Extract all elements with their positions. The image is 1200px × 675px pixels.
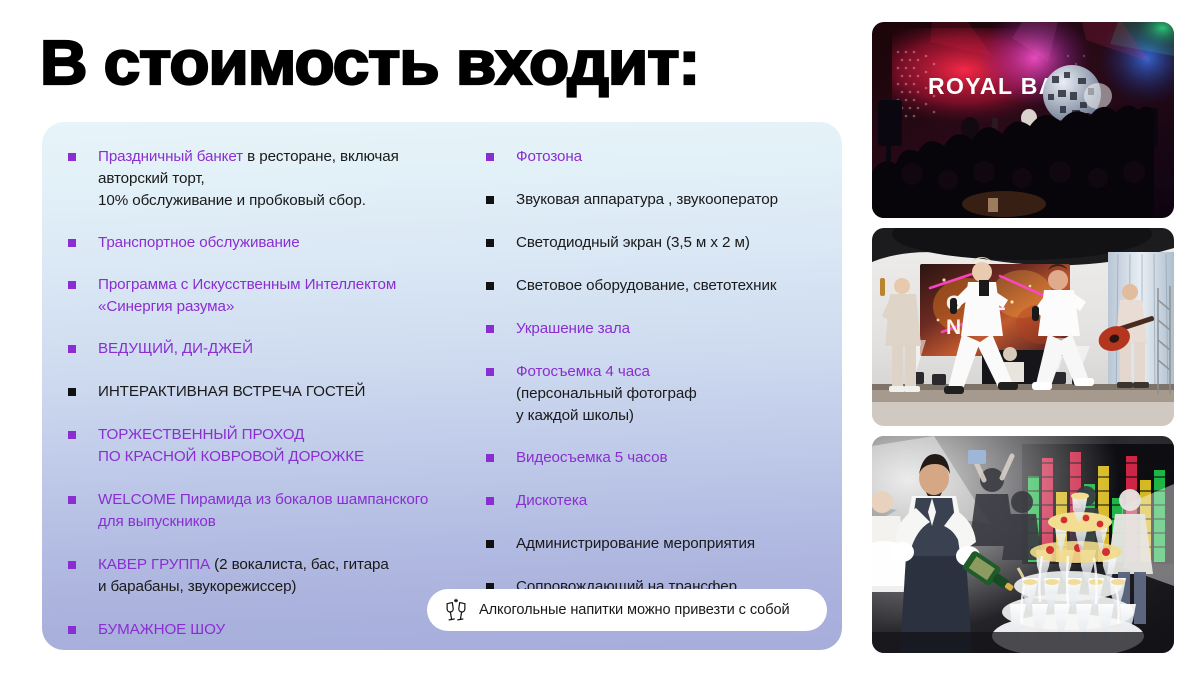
list-item: КАВЕР ГРУППА (2 вокалиста, бас, гитараи … [68,554,468,598]
bullet-icon [486,454,494,462]
list-item-highlight: Украшение зала [516,320,630,337]
list-item-highlight: Праздничный банкет [98,148,243,165]
list-item-line: 10% обслуживание и пробковый сбор. [98,192,366,209]
list-item-rest: Светодиодный экран (3,5 м х 2 м) [516,234,750,251]
bullet-icon [68,496,76,504]
concert-stage-royal-band-photo: ROYAL BAND [872,22,1174,218]
white-suit-performers-stage-photo: OYAL ND [872,228,1174,426]
list-item-line: и барабаны, звукорежиссер) [98,578,296,595]
bullet-icon [486,153,494,161]
list-item-highlight: ВЕДУЩИЙ, ДИ-ДЖЕЙ [98,340,253,357]
list-item-text: КАВЕР ГРУППА (2 вокалиста, бас, гитараи … [98,554,389,598]
bullet-icon [486,325,494,333]
list-item: Украшение зала [486,318,842,340]
bullet-icon [486,282,494,290]
bullet-icon [68,345,76,353]
list-item-text: ИНТЕРАКТИВНАЯ ВСТРЕЧА ГОСТЕЙ [98,381,365,403]
list-item-rest: Администрирование мероприятия [516,535,755,552]
list-item-text: Администрирование мероприятия [516,533,755,555]
list-item-rest: в ресторане, включая [243,148,399,165]
alcohol-note-text: Алкогольные напитки можно привезти с соб… [479,602,790,618]
inclusions-right-column: ФотозонаЗвуковая аппаратура , звукоопера… [468,122,842,650]
bullet-icon [68,388,76,396]
clinking-champagne-glasses-icon [443,597,469,623]
list-item-text: Праздничный банкет в ресторане, включаяа… [98,146,399,212]
list-item-highlight: Дискотека [516,492,587,509]
list-item-highlight: КАВЕР ГРУППА [98,556,210,573]
bullet-icon [486,239,494,247]
list-item-line: «Синергия разума» [98,298,234,315]
list-item: Звуковая аппаратура , звукооператор [486,189,842,211]
list-item-text: Фотозона [516,146,582,168]
bullet-icon [68,281,76,289]
list-item-rest: Световое оборудование, светотехник [516,277,776,294]
bullet-icon [486,196,494,204]
list-item-line: ПО КРАСНОЙ КОВРОВОЙ ДОРОЖКЕ [98,448,364,465]
list-item-text: ТОРЖЕСТВЕННЫЙ ПРОХОДПО КРАСНОЙ КОВРОВОЙ … [98,424,364,468]
bullet-icon [486,540,494,548]
list-item: Фотозона [486,146,842,168]
list-item: ВЕДУЩИЙ, ДИ-ДЖЕЙ [68,338,468,360]
list-item-highlight: ТОРЖЕСТВЕННЫЙ ПРОХОД [98,426,304,443]
list-item-rest: Звуковая аппаратура , звукооператор [516,191,778,208]
list-item: ИНТЕРАКТИВНАЯ ВСТРЕЧА ГОСТЕЙ [68,381,468,403]
list-item: Транспортное обслуживание [68,232,468,254]
list-item: Видеосъемка 5 часов [486,447,842,469]
champagne-pyramid-waiter-photo [872,436,1174,653]
list-item: WELCOME Пирамида из бокалов шампанскогод… [68,489,468,533]
list-item-highlight: Программа с Искусственным Интеллектом [98,276,396,293]
list-item: Программа с Искусственным Интеллектом«Си… [68,274,468,318]
bullet-icon [68,239,76,247]
list-item-text: Транспортное обслуживание [98,232,300,254]
list-item: ТОРЖЕСТВЕННЫЙ ПРОХОДПО КРАСНОЙ КОВРОВОЙ … [68,424,468,468]
inclusions-left-column: Праздничный банкет в ресторане, включаяа… [42,122,468,650]
list-item: Дискотека [486,490,842,512]
list-item-highlight: Фотозона [516,148,582,165]
list-item: Светодиодный экран (3,5 м х 2 м) [486,232,842,254]
list-item-line: для выпускников [98,513,216,530]
alcohol-note-callout: Алкогольные напитки можно привезти с соб… [427,589,827,631]
list-item-line: (персональный фотограф [516,385,697,402]
bullet-icon [486,368,494,376]
list-item-text: Программа с Искусственным Интеллектом«Си… [98,274,396,318]
list-item: Администрирование мероприятия [486,533,842,555]
list-item-text: БУМАЖНОЕ ШОУ [98,619,225,641]
bullet-icon [68,153,76,161]
list-item-text: Световое оборудование, светотехник [516,275,776,297]
list-item: БУМАЖНОЕ ШОУ [68,619,468,641]
list-item-text: Украшение зала [516,318,630,340]
list-item-line: авторский торт, [98,170,205,187]
list-item-rest: ИНТЕРАКТИВНАЯ ВСТРЕЧА ГОСТЕЙ [98,383,365,400]
list-item: Фотосъемка 4 часа(персональный фотографу… [486,361,842,427]
page-title: В стоимость входит: [40,30,699,98]
list-item: Праздничный банкет в ресторане, включаяа… [68,146,468,212]
list-item-highlight: Видеосъемка 5 часов [516,449,667,466]
list-item-text: Светодиодный экран (3,5 м х 2 м) [516,232,750,254]
bullet-icon [68,561,76,569]
bullet-icon [486,497,494,505]
list-item-highlight: Фотосъемка 4 часа [516,363,650,380]
list-item-highlight: Транспортное обслуживание [98,234,300,251]
photo-stack: ROYAL BAND [872,22,1174,653]
list-item-text: Видеосъемка 5 часов [516,447,667,469]
inclusions-panel: Праздничный банкет в ресторане, включаяа… [42,122,842,650]
list-item-text: Фотосъемка 4 часа(персональный фотографу… [516,361,697,427]
inclusions-columns: Праздничный банкет в ресторане, включаяа… [42,122,842,650]
list-item-text: Дискотека [516,490,587,512]
list-item-rest: (2 вокалиста, бас, гитара [210,556,389,573]
list-item-text: ВЕДУЩИЙ, ДИ-ДЖЕЙ [98,338,253,360]
list-item-line: у каждой школы) [516,407,634,424]
list-item-highlight: БУМАЖНОЕ ШОУ [98,621,225,638]
list-item: Световое оборудование, светотехник [486,275,842,297]
bullet-icon [68,626,76,634]
list-item-highlight: WELCOME Пирамида из бокалов шампанского [98,491,428,508]
list-item-text: Звуковая аппаратура , звукооператор [516,189,778,211]
bullet-icon [68,431,76,439]
list-item-text: WELCOME Пирамида из бокалов шампанскогод… [98,489,428,533]
